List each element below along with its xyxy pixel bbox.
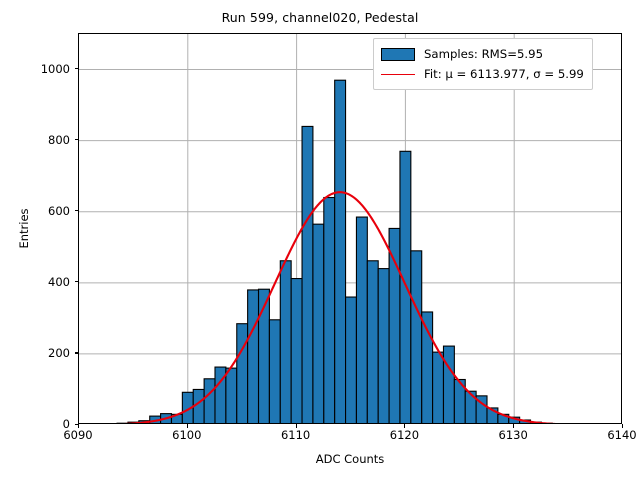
y-tick-mark — [75, 210, 79, 211]
x-tick-label: 6140 — [592, 428, 640, 442]
x-tick-label: 6130 — [483, 428, 543, 442]
plot-canvas — [79, 34, 622, 424]
histogram-bar — [400, 151, 411, 424]
x-tick-label: 6110 — [266, 428, 326, 442]
x-tick-label: 6120 — [374, 428, 434, 442]
histogram-bar — [346, 297, 357, 424]
legend-label-samples: Samples: RMS=5.95 — [424, 47, 543, 61]
histogram-bar — [280, 261, 291, 424]
y-tick-mark — [75, 68, 79, 69]
histogram-bar — [302, 126, 313, 424]
x-tick-mark — [78, 424, 79, 428]
y-tick-label: 800 — [14, 133, 70, 147]
x-tick-mark — [296, 424, 297, 428]
plot-area — [78, 33, 622, 424]
histogram-bars — [95, 80, 574, 424]
y-tick-label: 200 — [14, 346, 70, 360]
histogram-bar — [389, 228, 400, 424]
histogram-bar — [313, 224, 324, 424]
chart-title: Run 599, channel020, Pedestal — [0, 10, 640, 25]
y-tick-label: 1000 — [14, 62, 70, 76]
y-tick-mark — [75, 424, 79, 425]
histogram-bar — [269, 320, 280, 424]
histogram-bar — [259, 289, 270, 424]
legend-swatch-samples-icon — [381, 48, 415, 61]
y-tick-mark — [75, 352, 79, 353]
y-tick-mark — [75, 139, 79, 140]
histogram-bar — [248, 290, 259, 424]
chart-figure: Run 599, channel020, Pedestal Entries 60… — [0, 0, 640, 480]
y-tick-mark — [75, 281, 79, 282]
histogram-bar — [433, 352, 444, 424]
histogram-bar — [411, 251, 422, 424]
x-tick-mark — [404, 424, 405, 428]
histogram-bar — [378, 269, 389, 424]
histogram-bar — [443, 346, 454, 424]
histogram-bar — [193, 389, 204, 424]
histogram-bar — [237, 324, 248, 424]
histogram-bar — [291, 279, 302, 424]
legend-label-fit: Fit: μ = 6113.977, σ = 5.99 — [424, 67, 584, 81]
y-tick-label: 600 — [14, 204, 70, 218]
histogram-bar — [367, 261, 378, 424]
legend-swatch-fit-icon — [381, 68, 415, 81]
legend-entry-samples: Samples: RMS=5.95 — [381, 44, 584, 64]
histogram-bar — [226, 368, 237, 424]
y-axis-label: Entries — [17, 33, 31, 424]
x-tick-mark — [622, 424, 623, 428]
histogram-bar — [335, 80, 346, 424]
histogram-bar — [204, 379, 215, 424]
histogram-bar — [117, 423, 128, 424]
y-tick-label: 0 — [14, 417, 70, 431]
x-tick-mark — [513, 424, 514, 428]
x-tick-label: 6100 — [157, 428, 217, 442]
histogram-bar — [356, 217, 367, 424]
histogram-bar — [324, 198, 335, 424]
y-tick-label: 400 — [14, 275, 70, 289]
x-tick-mark — [187, 424, 188, 428]
histogram-bar — [541, 423, 552, 424]
chart-legend: Samples: RMS=5.95 Fit: μ = 6113.977, σ =… — [373, 38, 593, 90]
x-axis-label: ADC Counts — [78, 452, 622, 466]
legend-entry-fit: Fit: μ = 6113.977, σ = 5.99 — [381, 64, 584, 84]
